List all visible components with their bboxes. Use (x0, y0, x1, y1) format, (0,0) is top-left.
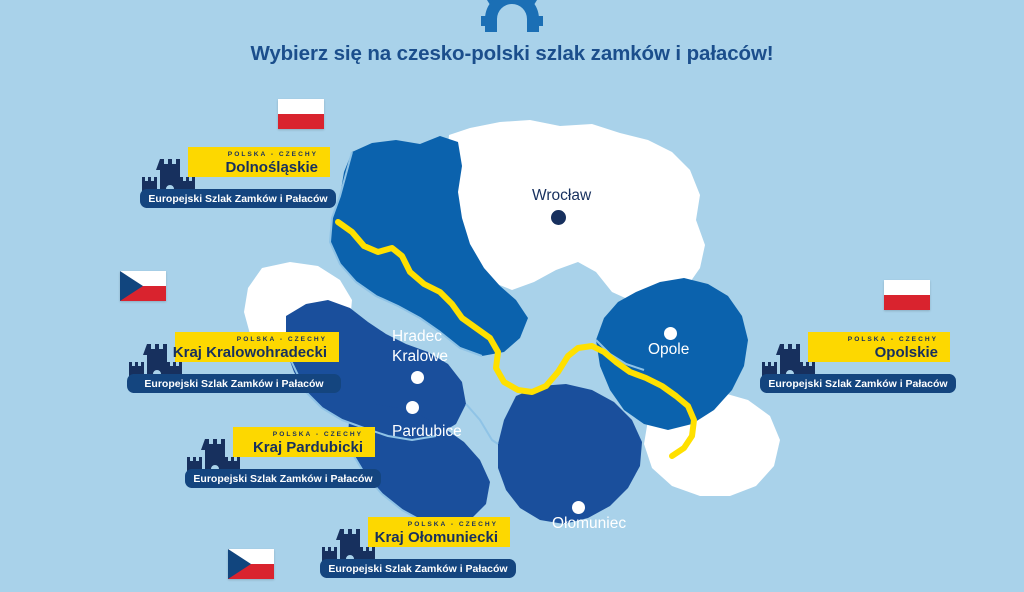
badge-kraj-pardubicki[interactable]: POLSKA - CZECHY Kraj Pardubicki Europejs… (185, 423, 375, 495)
badge-dolnoslaskie[interactable]: POLSKA - CZECHY Dolnośląskie Europejski … (140, 143, 330, 215)
city-label-olomuniec: Ołomuniec (552, 515, 626, 533)
badge-region-name: Opolskie (875, 345, 938, 360)
badge-yellow-banner: POLSKA - CZECHY Kraj Kralowohradecki (175, 332, 339, 362)
city-label-hradec: Hradec (392, 328, 442, 346)
flag-band-white (278, 99, 324, 114)
badge-ribbon: Europejski Szlak Zamków i Pałaców (766, 374, 950, 393)
flag-band-white (884, 280, 930, 295)
city-label-kralowe: Kralowe (392, 348, 448, 366)
badge-kicker: POLSKA - CZECHY (273, 432, 363, 439)
badge-kicker: POLSKA - CZECHY (237, 337, 327, 344)
badge-opolskie[interactable]: POLSKA - CZECHY Opolskie Europejski Szla… (760, 328, 950, 400)
badge-kicker: POLSKA - CZECHY (408, 522, 498, 529)
czechia-flag-icon (120, 271, 166, 301)
badge-kraj-olomuniecki[interactable]: POLSKA - CZECHY Kraj Ołomuniecki Europej… (320, 513, 510, 585)
badge-kicker: POLSKA - CZECHY (228, 152, 318, 159)
header-icon-wrap (0, 0, 1024, 34)
badge-region-name: Kraj Kralowohradecki (173, 345, 327, 360)
badge-yellow-banner: POLSKA - CZECHY Kraj Pardubicki (233, 427, 375, 457)
badge-region-name: Kraj Pardubicki (253, 440, 363, 455)
badge-ribbon: Europejski Szlak Zamków i Pałaców (133, 374, 335, 393)
map-region-olomuniecki (498, 384, 642, 524)
badge-kraj-kralowohradecki[interactable]: POLSKA - CZECHY Kraj Kralowohradecki Eur… (127, 328, 339, 400)
city-dot-olomuniec (572, 501, 585, 514)
city-label-pardubice: Pardubice (392, 423, 462, 441)
gear-icon (479, 0, 545, 34)
poland-flag-icon (278, 99, 324, 129)
badge-yellow-banner: POLSKA - CZECHY Opolskie (808, 332, 950, 362)
badge-region-name: Kraj Ołomuniecki (375, 530, 498, 545)
city-label-opole: Opole (648, 341, 689, 359)
czechia-flag-icon (228, 549, 274, 579)
badge-yellow-banner: POLSKA - CZECHY Kraj Ołomuniecki (368, 517, 510, 547)
flag-triangle-blue (228, 549, 251, 579)
city-dot-wroclaw (551, 210, 566, 225)
city-dot-opole (664, 327, 677, 340)
badge-region-name: Dolnośląskie (225, 160, 318, 175)
flag-band-red (278, 114, 324, 129)
flag-triangle-blue (120, 271, 143, 301)
badge-ribbon: Europejski Szlak Zamków i Pałaców (326, 559, 510, 578)
city-label-wroclaw: Wrocław (532, 187, 591, 205)
badge-kicker: POLSKA - CZECHY (848, 337, 938, 344)
city-dot-hradec-kralowe (411, 371, 424, 384)
page-title: Wybierz się na czesko-polski szlak zamkó… (0, 42, 1024, 66)
badge-ribbon: Europejski Szlak Zamków i Pałaców (191, 469, 375, 488)
infographic-canvas: Wrocław Hradec Kralowe Pardubice Opole O… (0, 0, 1024, 592)
badge-ribbon: Europejski Szlak Zamków i Pałaców (146, 189, 330, 208)
city-dot-pardubice (406, 401, 419, 414)
flag-band-red (884, 295, 930, 310)
badge-yellow-banner: POLSKA - CZECHY Dolnośląskie (188, 147, 330, 177)
poland-flag-icon (884, 280, 930, 310)
